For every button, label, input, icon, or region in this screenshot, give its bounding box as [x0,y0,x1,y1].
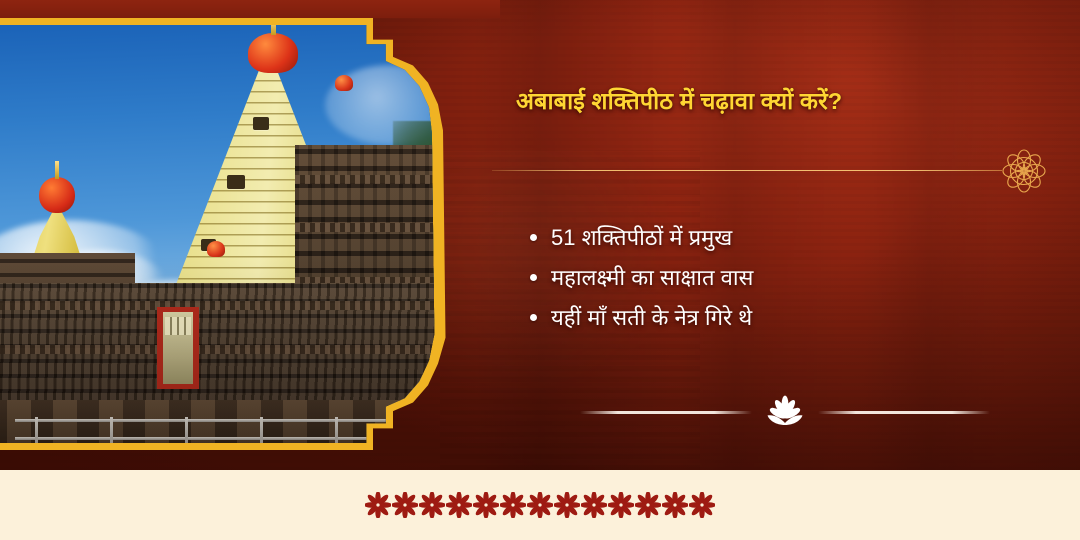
divider-rule-right [818,411,990,414]
eight-petal-flower-icon [500,492,526,518]
eight-petal-flower-icon [365,492,391,518]
poster-canvas: अंबाबाई शक्तिपीठ में चढ़ावा क्यों करें? … [0,0,1080,540]
temple-photo-frame [0,18,488,450]
bullet-dot-icon [530,234,537,241]
list-item: महालक्ष्मी का साक्षात वास [530,262,1030,293]
eight-petal-flower-icon [635,492,661,518]
flower-border-row [365,492,715,518]
list-item-label: 51 शक्तिपीठों में प्रमुख [551,222,732,253]
list-item: यहीं माँ सती के नेत्र गिरे थे [530,302,1030,333]
top-red-strip [0,0,500,18]
list-item: 51 शक्तिपीठों में प्रमुख [530,222,1030,253]
bullet-dot-icon [530,314,537,321]
eight-petal-flower-icon [446,492,472,518]
mandala-rosette-icon [996,143,1052,199]
eight-petal-flower-icon [581,492,607,518]
lotus-flower-icon [752,395,818,429]
eight-petal-flower-icon [689,492,715,518]
eight-petal-flower-icon [554,492,580,518]
list-item-label: महालक्ष्मी का साक्षात वास [551,262,753,293]
lotus-divider [580,395,990,429]
divider-rule-left [580,411,752,414]
page-title: अंबाबाई शक्तिपीठ में चढ़ावा क्यों करें? [516,86,986,118]
header-divider [492,170,1002,171]
eight-petal-flower-icon [392,492,418,518]
eight-petal-flower-icon [662,492,688,518]
eight-petal-flower-icon [473,492,499,518]
bullet-dot-icon [530,274,537,281]
bottom-decorative-band [0,470,1080,540]
eight-petal-flower-icon [608,492,634,518]
photo-shading-overlay [0,25,481,443]
list-item-label: यहीं माँ सती के नेत्र गिरे थे [551,302,752,333]
temple-photo [0,25,481,443]
eight-petal-flower-icon [527,492,553,518]
benefits-list: 51 शक्तिपीठों में प्रमुख महालक्ष्मी का स… [530,222,1030,343]
eight-petal-flower-icon [419,492,445,518]
